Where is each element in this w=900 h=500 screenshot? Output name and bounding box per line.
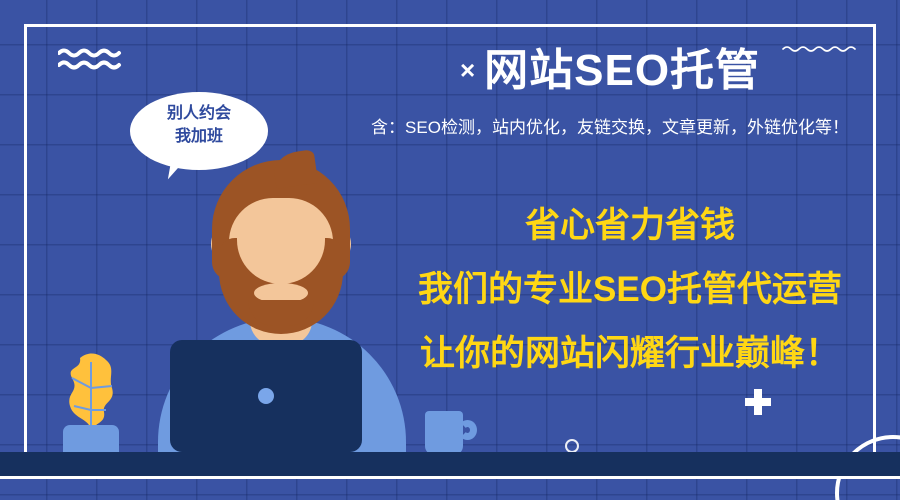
desk-edge-line bbox=[0, 476, 900, 479]
coffee-mug-handle bbox=[458, 420, 477, 440]
seo-poster: ×网站SEO托管 含：SEO检测，站内优化，友链交换，文章更新，外链优化等！ 省… bbox=[0, 0, 900, 500]
coffee-mug bbox=[425, 411, 463, 455]
plant-leaves bbox=[60, 348, 122, 434]
person-hair-tuft bbox=[272, 149, 318, 189]
desk-surface bbox=[0, 452, 900, 478]
laptop-logo-icon bbox=[258, 388, 274, 404]
plant-pot bbox=[63, 425, 119, 455]
